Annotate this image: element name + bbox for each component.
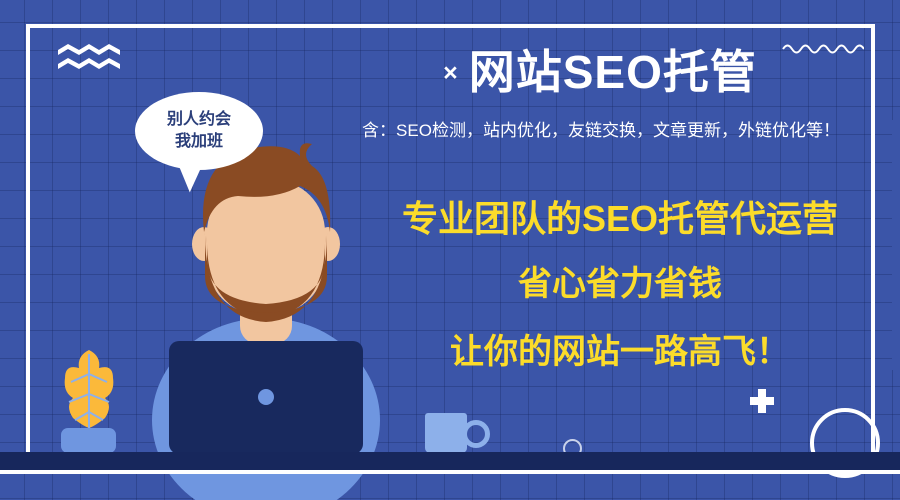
coffee-mug-icon [425,413,467,453]
title-text: 网站SEO托管 [469,46,757,98]
page-title: ×网站SEO托管 [330,44,870,101]
headline-line-1: 专业团队的SEO托管代运营 [370,196,870,242]
speech-bubble: 别人约会 我加班 [135,92,263,170]
title-cross-mark: × [443,59,459,87]
plant-pot [61,428,116,453]
speech-bubble-line-2: 我加班 [175,131,223,153]
speech-bubble-line-1: 别人约会 [167,109,231,131]
seo-banner: 别人约会 我加班 ×网站SEO托管 含：SEO检测，站内优化，友链交换，文章更新… [0,0,900,500]
coffee-mug-handle [462,420,490,448]
laptop-logo-dot [258,389,274,405]
headline-line-3: 让你的网站一路高飞！ [370,330,870,374]
headline-line-2: 省心省力省钱 [370,262,870,306]
subtitle-text: 含：SEO检测，站内优化，友链交换，文章更新，外链优化等！ [318,118,884,144]
desk-edge-line [0,470,900,474]
